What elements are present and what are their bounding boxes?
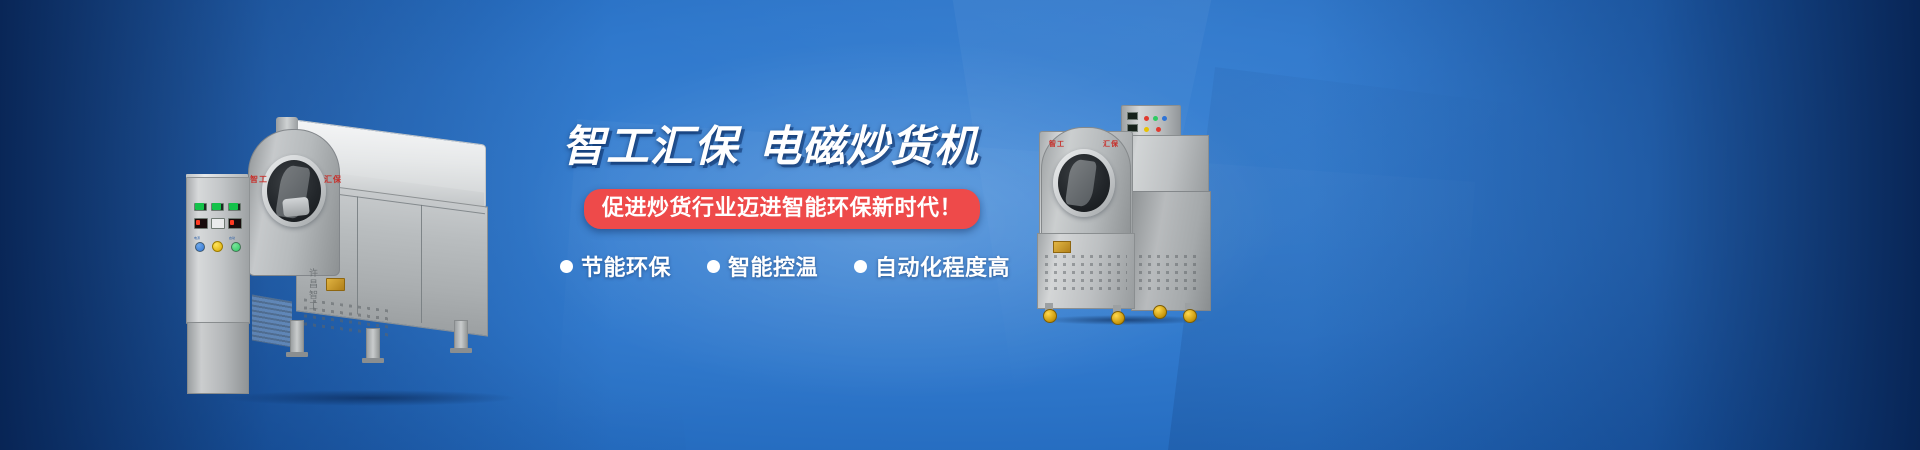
left-machine-leg-1: [290, 320, 304, 356]
left-panel-selector-knob[interactable]: [212, 241, 223, 252]
headline-brand: 智工汇保: [562, 123, 738, 171]
left-panel-button-green[interactable]: [231, 242, 241, 252]
left-machine-drum-vane-lower: [282, 197, 310, 218]
right-panel-display-1: [1127, 112, 1138, 120]
left-machine-drum-ring: [262, 155, 326, 227]
left-machine-brand-left: 智工: [250, 174, 268, 185]
right-machine-vent-grille: [1045, 255, 1127, 295]
left-machine-shadow: [226, 390, 516, 406]
banner-tagline-badge: 促进炒货行业迈进智能环保新时代！: [584, 189, 980, 229]
feature-list: 节能环保 智能控温 自动化程度高: [560, 250, 1030, 282]
right-machine-drum-vane: [1065, 158, 1097, 207]
right-panel-led-blue: [1162, 116, 1167, 121]
left-machine-cabinet-base: [187, 322, 249, 394]
left-machine-door-seam-1: [357, 196, 358, 314]
left-machine-side-grille: [252, 294, 292, 347]
right-machine-brand-left: 智工: [1049, 139, 1065, 149]
left-panel-led-1: [195, 203, 204, 210]
left-machine-nameplate: [326, 278, 345, 291]
left-panel-label-1: 电源: [194, 236, 200, 240]
left-machine-drum-opening: [267, 160, 321, 222]
right-machine-side-vent-grille: [1139, 255, 1201, 295]
feature-item-energy-saving: 节能环保: [560, 250, 671, 282]
left-panel-meter-2: [211, 218, 225, 229]
right-machine-drum-opening: [1058, 154, 1110, 212]
right-machine-nameplate: [1053, 241, 1071, 253]
left-panel-meter-led-1: [196, 220, 200, 225]
right-machine-brand-right: 汇保: [1103, 139, 1119, 149]
left-machine-brand-right: 汇保: [324, 174, 342, 185]
feature-item-smart-temperature: 智能控温: [707, 250, 818, 282]
feature-item-automation: 自动化程度高: [854, 250, 1010, 282]
feature-label: 自动化程度高: [875, 250, 1010, 282]
right-panel-led-yellow: [1144, 127, 1149, 132]
right-panel-led-red-2: [1156, 127, 1161, 132]
left-machine-cabinet-text: 许昌智工: [306, 268, 319, 312]
bullet-dot-icon: [854, 260, 867, 273]
right-machine-caster-4: [1153, 305, 1167, 319]
left-machine-foot-1: [286, 352, 308, 357]
left-panel-led-2: [212, 203, 221, 210]
right-machine-drum-ring: [1053, 149, 1115, 217]
left-machine-leg-2: [366, 328, 380, 362]
left-panel-meter-led-2: [230, 220, 234, 225]
left-panel-button-blue[interactable]: [195, 242, 205, 252]
bullet-dot-icon: [707, 260, 720, 273]
left-panel-led-3: [229, 203, 238, 210]
bullet-dot-icon: [560, 260, 573, 273]
left-machine-foot-2: [362, 358, 384, 363]
right-panel-led-red: [1144, 116, 1149, 121]
product-image-right-machine: 智工 汇保: [1035, 105, 1225, 350]
feature-label: 智能控温: [728, 250, 818, 282]
right-panel-led-green: [1153, 116, 1158, 121]
right-machine-caster-1: [1043, 309, 1057, 323]
banner-headline: 智工汇保电磁炒货机: [562, 126, 1030, 169]
product-image-left-machine: 智工 汇保 许昌智工 电源 启动: [186, 98, 556, 348]
left-machine-door-seam-2: [421, 205, 422, 323]
right-machine-caster-2: [1111, 311, 1125, 325]
right-machine-caster-3: [1183, 309, 1197, 323]
feature-label: 节能环保: [581, 250, 671, 282]
headline-product: 电磁炒货机: [758, 123, 978, 171]
left-machine-foot-3: [450, 348, 472, 353]
left-panel-label-2: 启动: [229, 236, 235, 240]
left-machine-control-cabinet: 电源 启动: [186, 177, 250, 324]
promo-banner: 智工 汇保 许昌智工 电源 启动: [0, 0, 1920, 450]
banner-content: 智工汇保电磁炒货机 促进炒货行业迈进智能环保新时代！ 节能环保 智能控温 自动化…: [560, 0, 1030, 450]
